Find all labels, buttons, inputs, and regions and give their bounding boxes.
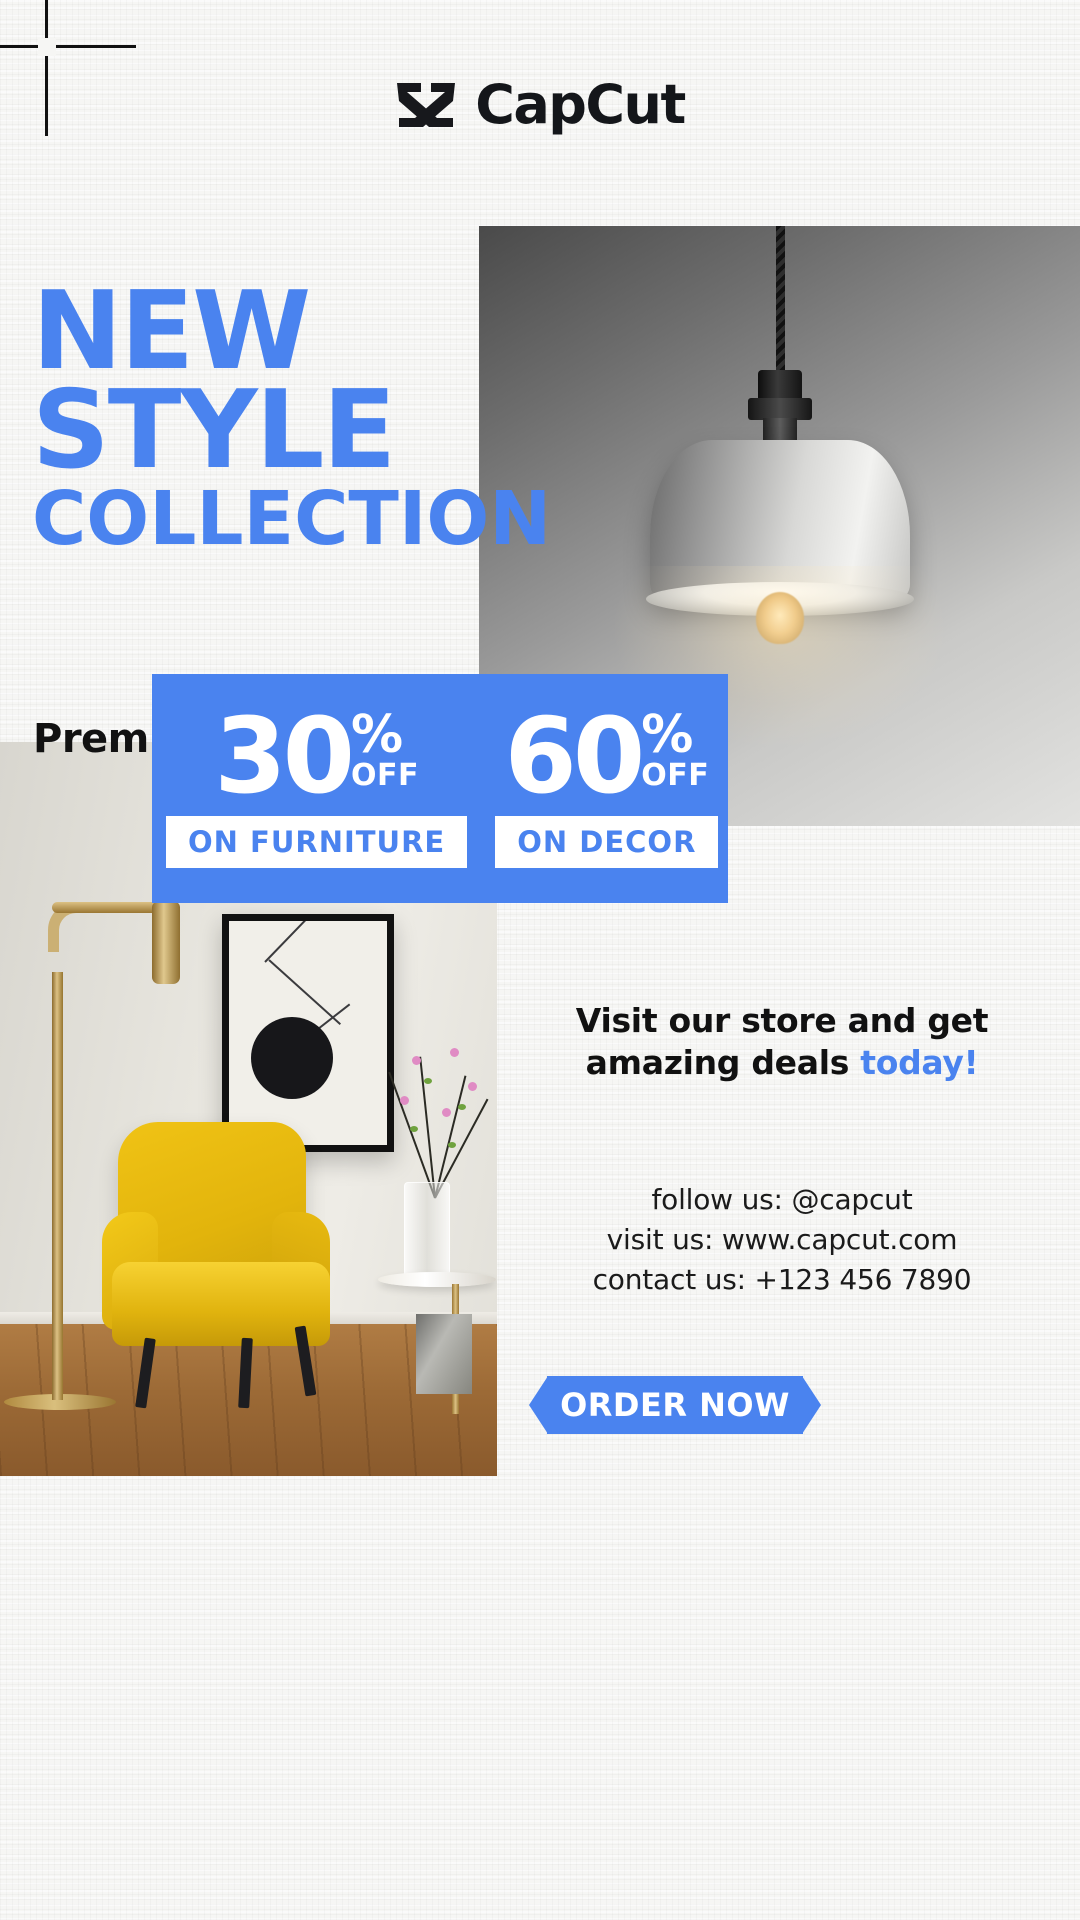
lamp-shade — [650, 440, 910, 600]
discount-furniture-number: 30 — [214, 709, 351, 805]
discount-banner: 30 % OFF ON FURNITURE 60 % OFF ON DECOR — [152, 674, 728, 903]
contact-follow: follow us: @capcut — [508, 1180, 1056, 1220]
order-now-label: ORDER NOW — [560, 1386, 790, 1424]
artwork-line — [268, 959, 341, 1025]
crop-mark-vertical — [45, 0, 48, 136]
discount-decor-pill: ON DECOR — [495, 816, 718, 868]
glass-vase — [404, 1182, 450, 1282]
discount-furniture-percent: % — [351, 715, 403, 757]
cta-line-2-plain: amazing deals — [586, 1043, 861, 1082]
contact-website: visit us: www.capcut.com — [508, 1220, 1056, 1260]
discount-decor: 60 % OFF ON DECOR — [481, 674, 732, 903]
cta-line-2-accent: today! — [860, 1043, 978, 1082]
lamp-cord — [776, 226, 785, 376]
contact-phone: contact us: +123 456 7890 — [508, 1260, 1056, 1300]
side-table-stone-base — [416, 1314, 472, 1394]
ribbon-tail-left-icon — [529, 1376, 548, 1434]
order-now-body[interactable]: ORDER NOW — [547, 1376, 803, 1434]
lamp-bulb — [756, 592, 804, 644]
discount-decor-number: 60 — [504, 709, 641, 805]
discount-furniture-pill: ON FURNITURE — [166, 816, 467, 868]
crop-mark-gap — [38, 38, 56, 56]
ribbon-tail-right-icon — [802, 1376, 821, 1434]
discount-decor-off: OFF — [641, 758, 709, 793]
contact-info: follow us: @capcut visit us: www.capcut.… — [508, 1180, 1056, 1299]
brand-logo: CapCut — [0, 78, 1080, 132]
floor-lamp-head — [152, 902, 180, 984]
headline-line-1: NEW — [32, 282, 502, 381]
page-title: NEW STYLE COLLECTION — [32, 282, 502, 553]
discount-decor-percent: % — [641, 715, 693, 757]
artwork-line — [264, 921, 332, 963]
discount-furniture: 30 % OFF ON FURNITURE — [152, 674, 481, 903]
capcut-logo-icon — [395, 79, 457, 131]
lamp-cap — [758, 370, 802, 400]
cta-line-1: Visit our store and get — [508, 1000, 1056, 1042]
crop-marks — [0, 0, 160, 160]
cta-message: Visit our store and get amazing deals to… — [508, 1000, 1056, 1084]
discount-decor-value: 60 % OFF — [504, 709, 709, 805]
headline-line-3: COLLECTION — [32, 485, 502, 553]
headline-line-2: STYLE — [32, 381, 502, 480]
crop-mark-horizontal — [0, 45, 136, 48]
capcut-wordmark: CapCut — [475, 78, 685, 132]
artwork-circle — [251, 1017, 333, 1099]
lamp-collar — [748, 398, 812, 420]
framed-artwork — [222, 914, 394, 1152]
cta-line-2: amazing deals today! — [508, 1042, 1056, 1084]
side-table-top — [378, 1272, 496, 1287]
flower-stems — [390, 1038, 486, 1198]
floor-lamp-pole — [52, 972, 63, 1400]
discount-furniture-value: 30 % OFF — [214, 709, 419, 805]
discount-furniture-off: OFF — [351, 758, 419, 793]
order-now-button[interactable]: ORDER NOW — [529, 1376, 821, 1434]
artwork-canvas — [229, 921, 387, 1145]
